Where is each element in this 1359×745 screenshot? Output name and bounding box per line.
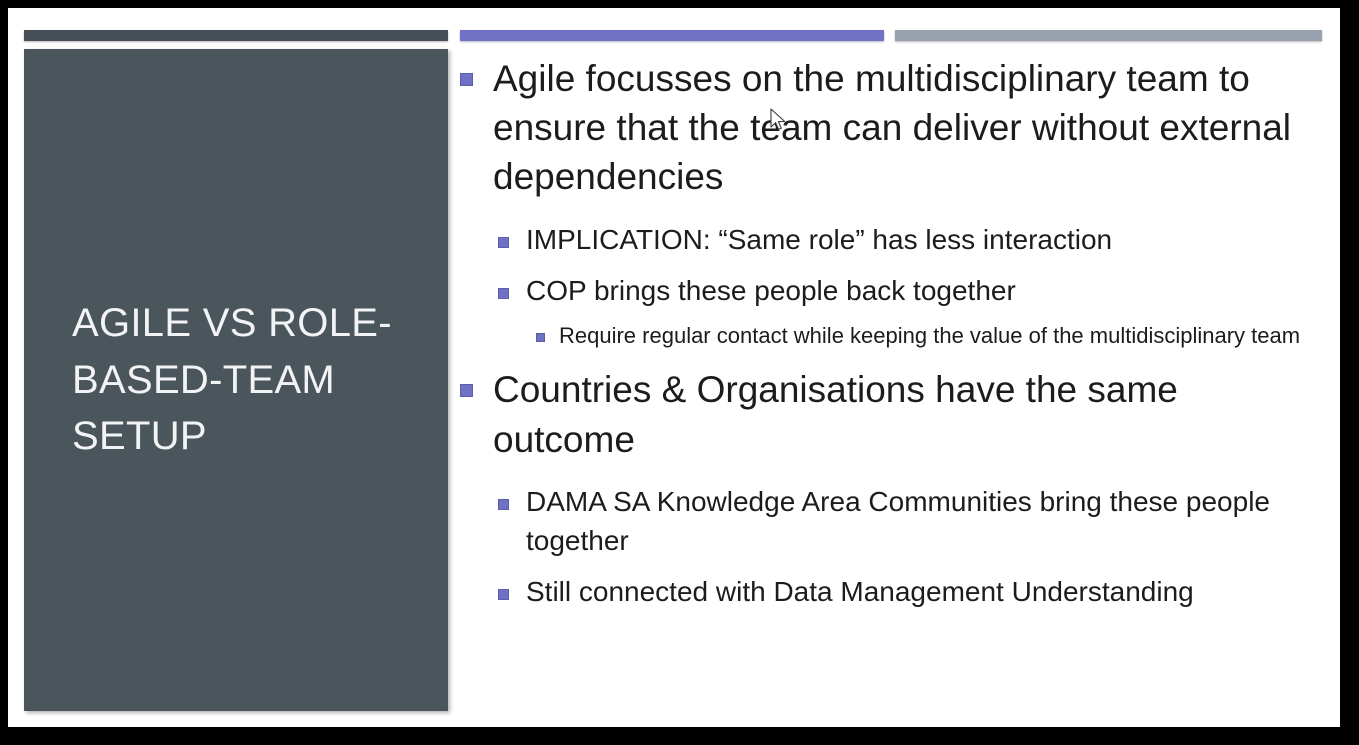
spacer: [460, 353, 1324, 365]
bullet-text: DAMA SA Knowledge Area Communities bring…: [526, 482, 1324, 560]
bullet-square-icon: [498, 288, 509, 299]
spacer: [460, 261, 1324, 271]
bullet-square-icon: [498, 499, 509, 510]
bullet-level2: Still connected with Data Management Und…: [498, 572, 1324, 611]
slide-canvas: AGILE VS ROLE-BASED-TEAM SETUP Agile foc…: [8, 8, 1340, 727]
bullet-level1: Agile focusses on the multidisciplinary …: [460, 54, 1324, 202]
spacer: [460, 206, 1324, 220]
slide-title: AGILE VS ROLE-BASED-TEAM SETUP: [24, 295, 448, 465]
bullet-text: Still connected with Data Management Und…: [526, 572, 1194, 611]
bullet-level2: IMPLICATION: “Same role” has less intera…: [498, 220, 1324, 259]
spacer: [460, 312, 1324, 320]
slide-body-content: Agile focusses on the multidisciplinary …: [460, 54, 1324, 714]
bullet-level2: COP brings these people back together: [498, 271, 1324, 310]
spacer: [460, 562, 1324, 572]
bullet-text: Agile focusses on the multidisciplinary …: [493, 54, 1324, 202]
bullet-text: COP brings these people back together: [526, 271, 1016, 310]
bullet-square-icon: [460, 73, 473, 86]
bullet-text: IMPLICATION: “Same role” has less intera…: [526, 220, 1112, 259]
bullet-square-icon: [536, 333, 545, 342]
bullet-level2: DAMA SA Knowledge Area Communities bring…: [498, 482, 1324, 560]
bullet-square-icon: [498, 237, 509, 248]
top-bar-gray: [895, 30, 1322, 41]
bullet-text: Require regular contact while keeping th…: [559, 320, 1300, 351]
title-panel: AGILE VS ROLE-BASED-TEAM SETUP: [24, 49, 448, 711]
bullet-text: Countries & Organisations have the same …: [493, 365, 1324, 463]
spacer: [460, 468, 1324, 482]
bullet-square-icon: [460, 384, 473, 397]
top-bar-dark: [24, 30, 448, 41]
bullet-square-icon: [498, 589, 509, 600]
bullet-level3: Require regular contact while keeping th…: [536, 320, 1324, 351]
top-bar-accent: [460, 30, 884, 41]
video-letterbox-frame: AGILE VS ROLE-BASED-TEAM SETUP Agile foc…: [0, 0, 1359, 745]
bullet-level1: Countries & Organisations have the same …: [460, 365, 1324, 463]
